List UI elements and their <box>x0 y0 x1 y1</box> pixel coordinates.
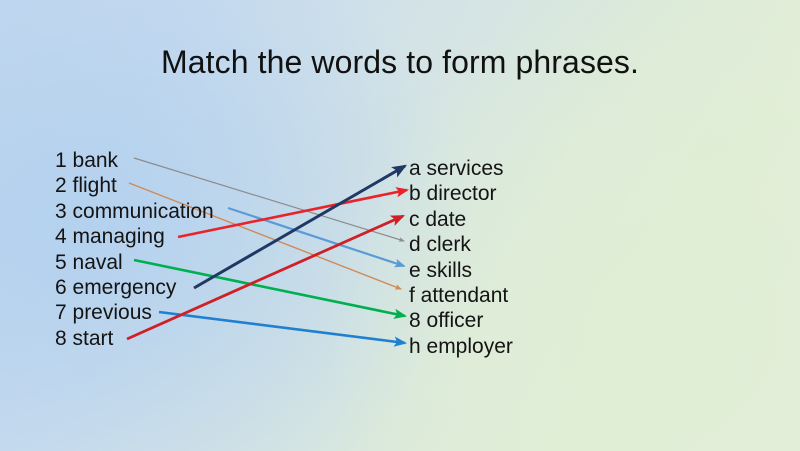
right-word-column: a services b director c date d clerk e s… <box>409 156 513 359</box>
right-item-h[interactable]: h employer <box>409 334 513 359</box>
left-word-column: 1 bank 2 flight 3 communication 4 managi… <box>55 148 214 351</box>
connector-emergency-to-services[interactable] <box>194 166 405 288</box>
left-item-4[interactable]: 4 managing <box>55 224 214 249</box>
left-item-7[interactable]: 7 previous <box>55 300 214 325</box>
right-item-g[interactable]: 8 officer <box>409 308 513 333</box>
left-item-8[interactable]: 8 start <box>55 326 214 351</box>
slide-canvas: Match the words to form phrases. 1 bank … <box>0 0 800 451</box>
connector-communication-to-skills[interactable] <box>228 208 404 266</box>
right-item-c[interactable]: c date <box>409 207 513 232</box>
left-item-1[interactable]: 1 bank <box>55 148 214 173</box>
right-item-a[interactable]: a services <box>409 156 513 181</box>
left-item-2[interactable]: 2 flight <box>55 173 214 198</box>
page-title: Match the words to form phrases. <box>0 42 800 82</box>
right-item-b[interactable]: b director <box>409 181 513 206</box>
left-item-3[interactable]: 3 communication <box>55 199 214 224</box>
right-item-f[interactable]: f attendant <box>409 283 513 308</box>
left-item-5[interactable]: 5 naval <box>55 250 214 275</box>
right-item-d[interactable]: d clerk <box>409 232 513 257</box>
left-item-6[interactable]: 6 emergency <box>55 275 214 300</box>
right-item-e[interactable]: e skills <box>409 258 513 283</box>
